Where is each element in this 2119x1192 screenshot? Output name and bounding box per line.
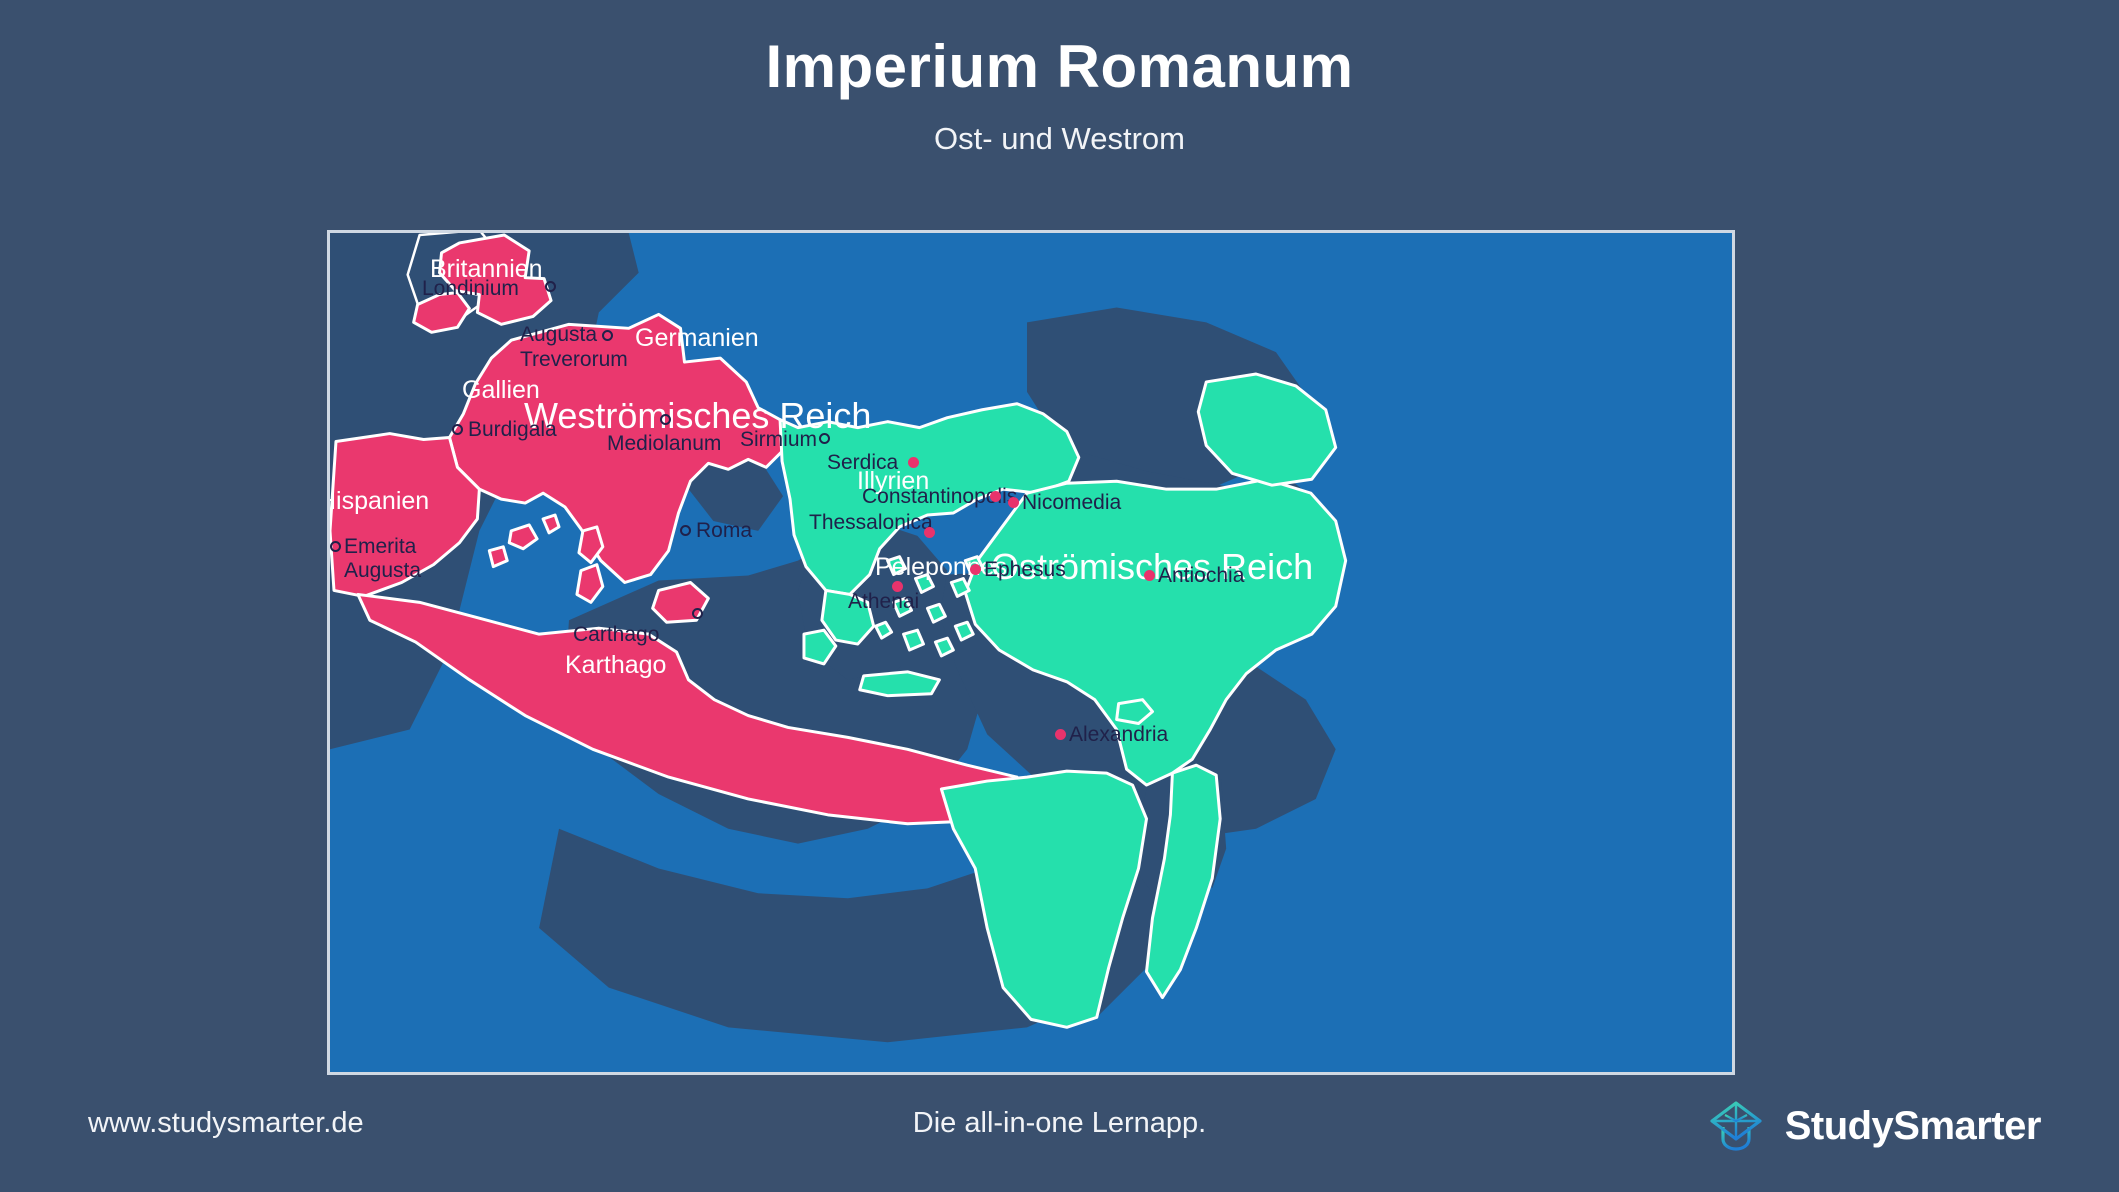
city-dot-antiochia [1144, 570, 1155, 581]
city-dot-burdigala [452, 424, 463, 435]
city-dot-sirmium [819, 433, 830, 444]
city-dot-alexandria [1055, 729, 1066, 740]
city-dot-londinium [545, 281, 556, 292]
page-subtitle: Ost- und Westrom [0, 101, 2119, 157]
footer: www.studysmarter.de Die all-in-one Lerna… [0, 1075, 2119, 1192]
city-dot-mediolanum [660, 414, 671, 425]
city-dot-emerita-augusta [330, 541, 341, 552]
city-dot-athenai [892, 581, 903, 592]
city-dot-constantinopolis [990, 491, 1001, 502]
city-dot-serdica [908, 457, 919, 468]
map-graphic: .sea-outer { fill:#1c6fb5; } .sea-inner … [330, 233, 1732, 1072]
city-dot-roma [680, 525, 691, 536]
city-dot-carthago [692, 608, 703, 619]
city-dot-ephesus [970, 564, 981, 575]
brand-name: StudySmarter [1785, 1104, 2041, 1149]
page-title: Imperium Romanum [0, 0, 2119, 101]
brand-lockup[interactable]: StudySmarter [1705, 1095, 2041, 1157]
map-container[interactable]: .sea-outer { fill:#1c6fb5; } .sea-inner … [327, 230, 1735, 1075]
city-dot-thessalonica [924, 527, 935, 538]
city-dot-augusta-treverorum [602, 330, 613, 341]
header: Imperium Romanum Ost- und Westrom [0, 0, 2119, 215]
city-dot-nicomedia [1008, 497, 1019, 508]
graduation-cap-icon [1705, 1095, 1767, 1157]
